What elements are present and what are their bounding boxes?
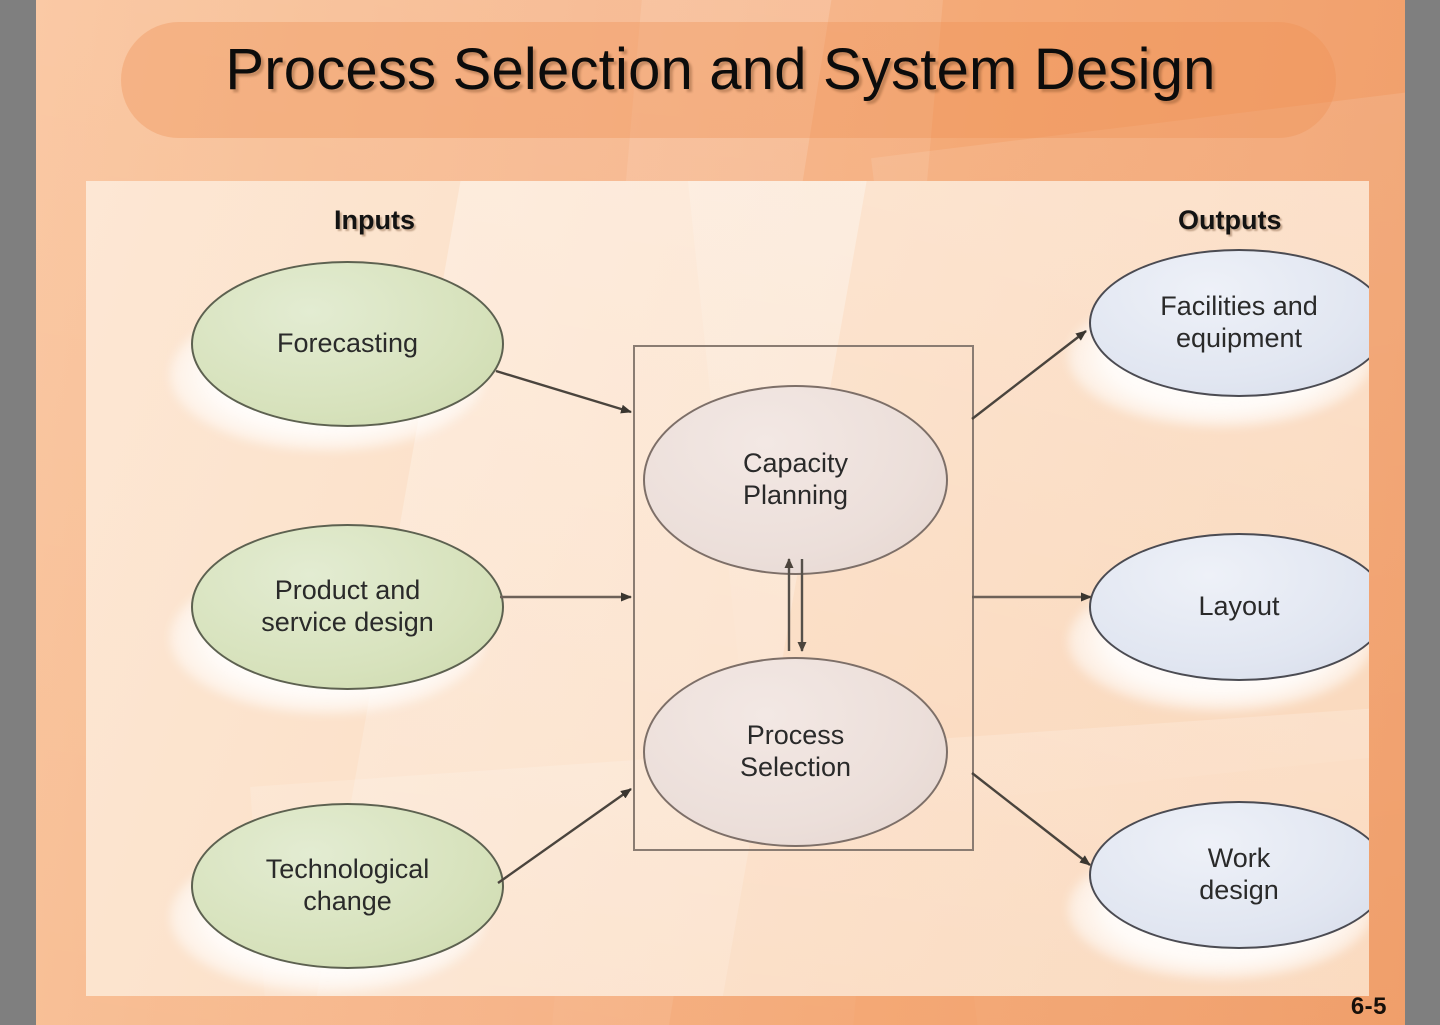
node-technological-change[interactable]: Technological change [191, 803, 504, 969]
outputs-column-header: Outputs [1178, 205, 1281, 236]
node-label-technological-change-line2: change [303, 886, 392, 916]
node-label-capacity-planning-line1: Capacity [743, 448, 848, 478]
node-label-facilities-equipment-line2: equipment [1176, 323, 1302, 353]
node-forecasting[interactable]: Forecasting [191, 261, 504, 427]
inputs-column-header: Inputs [334, 205, 415, 236]
node-label-work-design-line1: Work [1208, 843, 1271, 873]
node-layout[interactable]: Layout [1089, 533, 1369, 681]
node-label-product-service-design-line2: service design [261, 607, 434, 637]
node-facilities-equipment[interactable]: Facilities and equipment [1089, 249, 1369, 397]
node-label-capacity-planning-line2: Planning [743, 480, 848, 510]
node-label-product-service-design-line1: Product and [275, 575, 421, 605]
slide-number: 6-5 [1351, 993, 1387, 1021]
arrow-technological-change-to-core [498, 789, 631, 883]
node-process-selection[interactable]: Process Selection [643, 657, 948, 847]
node-label-technological-change-line1: Technological [266, 854, 430, 884]
arrow-forecasting-to-core [496, 371, 631, 412]
arrow-core-to-work-design [972, 773, 1090, 865]
node-product-service-design[interactable]: Product and service design [191, 524, 504, 690]
diagram-panel: Inputs Outputs Forecasting Product and s… [86, 181, 1369, 996]
node-label-process-selection-line2: Selection [740, 752, 851, 782]
node-label-forecasting: Forecasting [267, 328, 428, 360]
node-label-facilities-equipment-line1: Facilities and [1160, 291, 1318, 321]
page-title: Process Selection and System Design [36, 0, 1405, 145]
node-work-design[interactable]: Work design [1089, 801, 1369, 949]
node-label-work-design-line2: design [1199, 875, 1279, 905]
slide-frame: Process Selection and System Design Inpu… [0, 0, 1440, 1025]
node-label-process-selection-line1: Process [747, 720, 845, 750]
node-capacity-planning[interactable]: Capacity Planning [643, 385, 948, 575]
arrow-core-to-facilities [972, 331, 1086, 419]
node-label-layout: Layout [1188, 591, 1289, 623]
slide-canvas: Process Selection and System Design Inpu… [36, 0, 1405, 1025]
